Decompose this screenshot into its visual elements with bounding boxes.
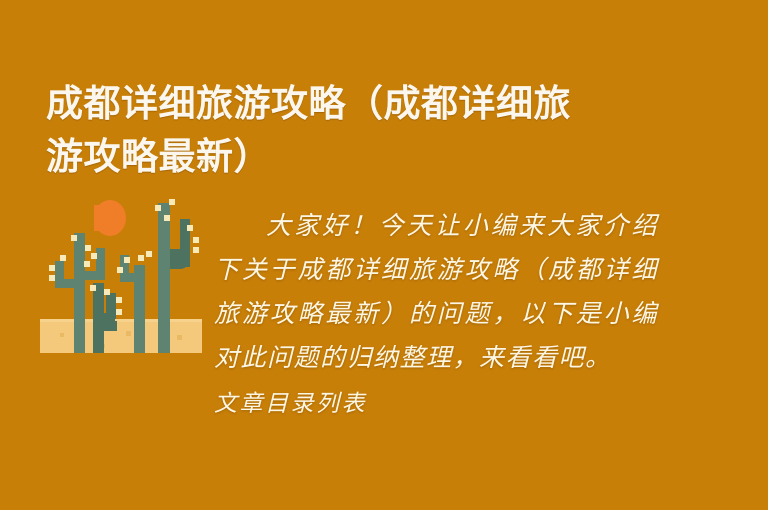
desert-cactus-illustration xyxy=(38,193,204,357)
lead-paragraph: 大家好！今天让小编来大家介绍下关于成都详细旅游攻略（成都详细旅游攻略最新）的问题… xyxy=(214,204,658,380)
article-page: 成都详细旅游攻略（成都详细旅 游攻略最新） xyxy=(0,0,768,510)
sun-icon xyxy=(94,200,126,236)
article-body: 大家好！今天让小编来大家介绍下关于成都详细旅游攻略（成都详细旅游攻略最新）的问题… xyxy=(214,204,658,426)
sand-band xyxy=(40,319,202,353)
page-title: 成都详细旅游攻略（成都详细旅 游攻略最新） xyxy=(46,77,686,183)
toc-heading: 文章目录列表 xyxy=(214,382,658,426)
